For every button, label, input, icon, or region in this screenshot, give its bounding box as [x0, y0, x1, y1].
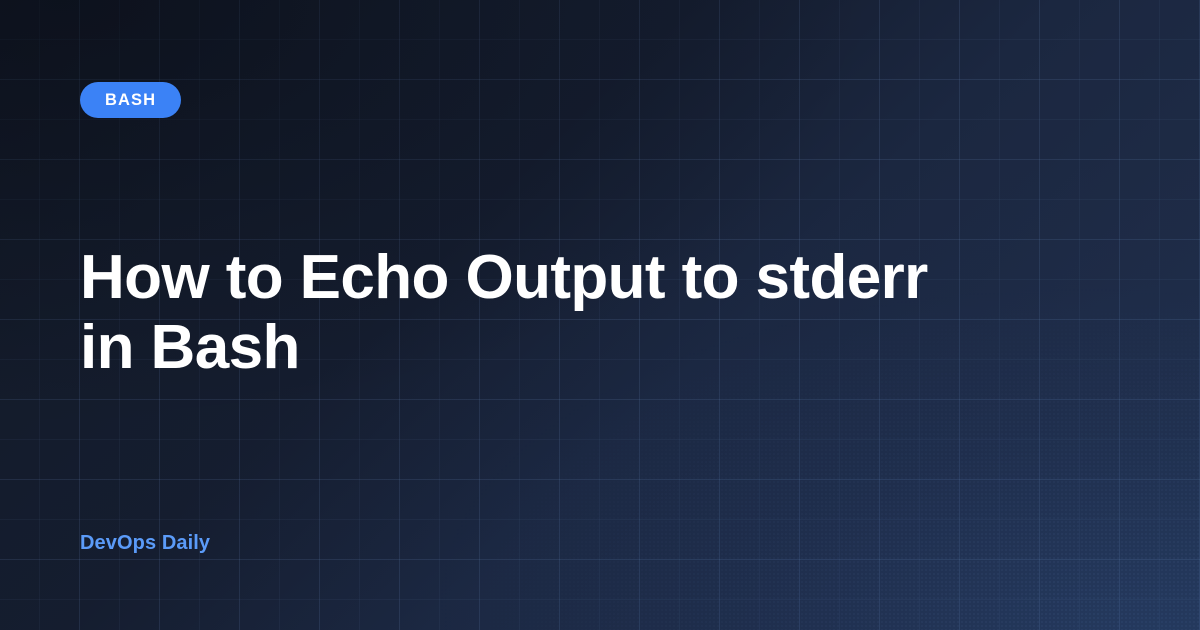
page-title: How to Echo Output to stderr in Bash	[80, 243, 1020, 383]
page-title-line-2: in Bash	[80, 313, 1020, 383]
category-badge: BASH	[80, 82, 181, 118]
site-brand: DevOps Daily	[80, 530, 210, 556]
category-badge-label: BASH	[105, 92, 156, 109]
page-title-line-1: How to Echo Output to stderr	[80, 243, 1020, 313]
card-content: BASH How to Echo Output to stderr in Bas…	[0, 0, 1200, 630]
social-card: BASH How to Echo Output to stderr in Bas…	[0, 0, 1200, 630]
